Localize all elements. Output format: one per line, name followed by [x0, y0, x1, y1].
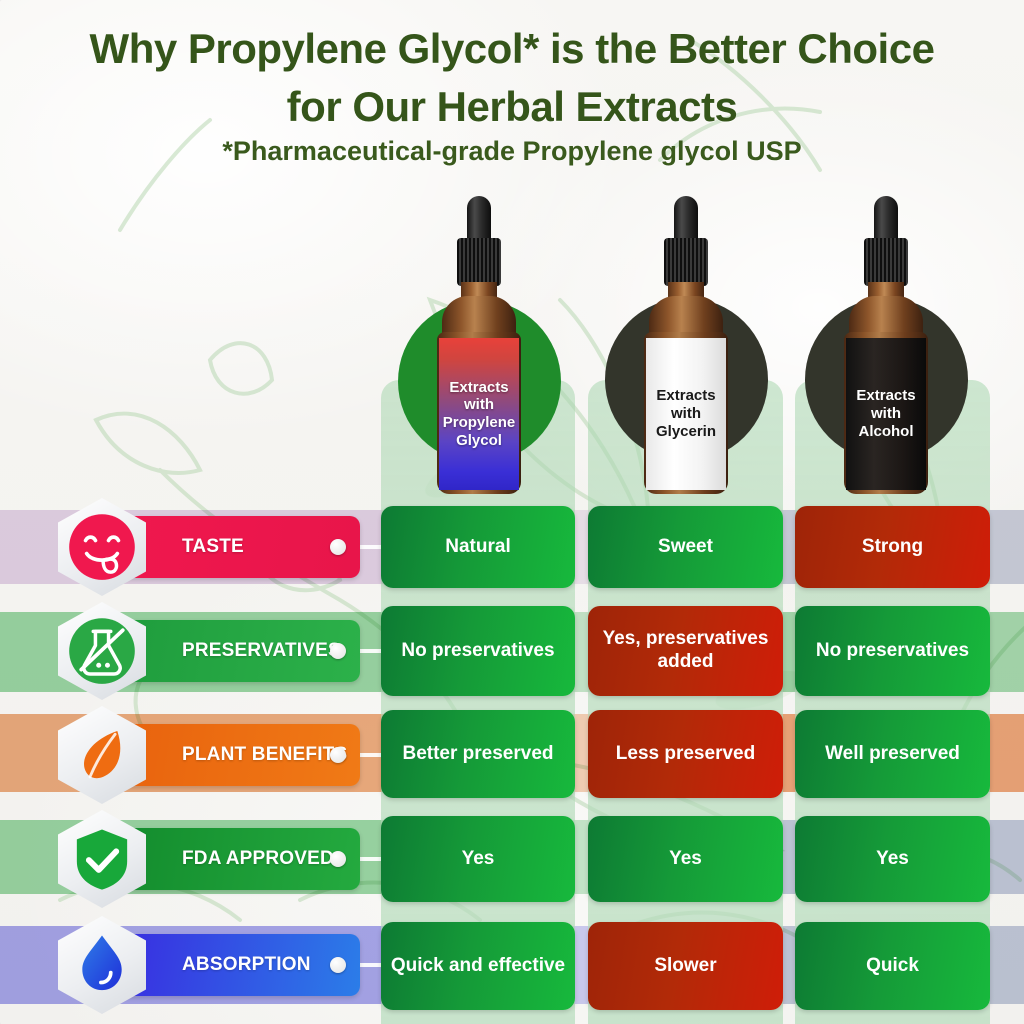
feature-hex-badge-preservatives [58, 602, 146, 700]
feature-hex-badge-taste [58, 498, 146, 596]
connector-dot-fda-approved [330, 851, 346, 867]
cell-absorption-glycerin: Slower [588, 922, 783, 1010]
cell-taste-glycerin: Sweet [588, 506, 783, 588]
bottle-label-line-3-alcohol: Alcohol [856, 423, 915, 441]
cell-plant-benefits-propylene-glycol: Better preserved [381, 710, 575, 798]
cell-plant-benefits-alcohol: Well preserved [795, 710, 990, 798]
connector-dot-absorption [330, 957, 346, 973]
infographic-root: Why Propylene Glycol* is the Better Choi… [0, 0, 1024, 1024]
cell-preservatives-glycerin: Yes, preservatives added [588, 606, 783, 696]
cell-text-plant-benefits-glycerin: Less preserved [616, 743, 755, 766]
cell-absorption-alcohol: Quick [795, 922, 990, 1010]
cell-taste-alcohol: Strong [795, 506, 990, 588]
cell-text-preservatives-glycerin: Yes, preservatives added [596, 628, 775, 674]
bottle-captip-alcohol [874, 196, 898, 244]
cell-absorption-propylene-glycol: Quick and effective [381, 922, 575, 1010]
bottle-alcohol: ExtractswithAlcohol [0, 0, 1024, 520]
cell-preservatives-propylene-glycol: No preservatives [381, 606, 575, 696]
cell-fda-approved-glycerin: Yes [588, 816, 783, 902]
cell-text-preservatives-propylene-glycol: No preservatives [401, 640, 554, 663]
feature-hex-badge-absorption [58, 916, 146, 1014]
bottle-label-line-1-alcohol: Extracts [856, 387, 915, 405]
leaf-icon [67, 715, 137, 795]
cell-text-absorption-alcohol: Quick [866, 955, 919, 978]
cell-text-fda-approved-propylene-glycol: Yes [462, 848, 495, 871]
cell-fda-approved-alcohol: Yes [795, 816, 990, 902]
smiley-tongue-icon [67, 507, 137, 587]
flask-no-icon [67, 611, 137, 691]
cell-text-absorption-glycerin: Slower [654, 955, 716, 978]
feature-label-preservatives: PRESERVATIVES [182, 640, 341, 662]
feature-label-taste: TASTE [182, 536, 244, 558]
cell-fda-approved-propylene-glycol: Yes [381, 816, 575, 902]
cell-text-plant-benefits-propylene-glycol: Better preserved [402, 743, 553, 766]
bottle-label-line-2-alcohol: with [856, 405, 915, 423]
cell-text-fda-approved-alcohol: Yes [876, 848, 909, 871]
cell-text-taste-alcohol: Strong [862, 536, 923, 559]
connector-dot-plant-benefits [330, 747, 346, 763]
feature-hex-badge-plant-benefits [58, 706, 146, 804]
feature-label-fda-approved: FDA APPROVED [182, 848, 334, 870]
feature-label-absorption: ABSORPTION [182, 954, 311, 976]
connector-dot-taste [330, 539, 346, 555]
cell-text-preservatives-alcohol: No preservatives [816, 640, 969, 663]
cell-text-plant-benefits-alcohol: Well preserved [825, 743, 960, 766]
cell-text-taste-glycerin: Sweet [658, 536, 713, 559]
feature-label-plant-benefits: PLANT BENEFITS [182, 744, 347, 766]
feature-hex-badge-fda-approved [58, 810, 146, 908]
cell-taste-propylene-glycol: Natural [381, 506, 575, 588]
cell-plant-benefits-glycerin: Less preserved [588, 710, 783, 798]
shield-check-icon [67, 819, 137, 899]
connector-dot-preservatives [330, 643, 346, 659]
bottle-label-alcohol: ExtractswithAlcohol [846, 338, 926, 490]
cell-preservatives-alcohol: No preservatives [795, 606, 990, 696]
cell-text-fda-approved-glycerin: Yes [669, 848, 702, 871]
bottle-caprib-alcohol [864, 238, 908, 286]
water-drop-icon [67, 925, 137, 1005]
cell-text-absorption-propylene-glycol: Quick and effective [391, 955, 565, 978]
cell-text-taste-propylene-glycol: Natural [445, 536, 510, 559]
